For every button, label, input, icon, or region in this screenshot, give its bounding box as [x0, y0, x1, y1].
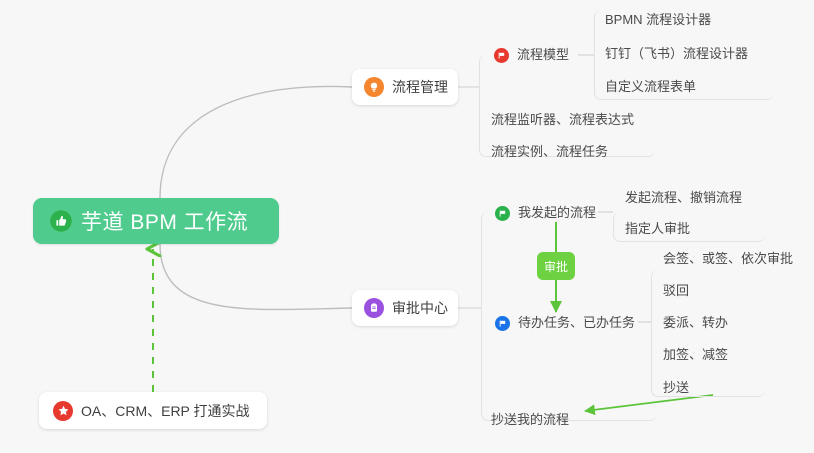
flag-icon — [495, 206, 510, 221]
leaf-daiban-yiban-renwu[interactable]: 待办任务、已办任务 — [495, 313, 635, 333]
branch-label: 流程管理 — [392, 77, 448, 97]
approval-badge-label: 审批 — [544, 258, 568, 275]
leaf-label: 抄送 — [663, 378, 689, 398]
leaf-chaosong[interactable]: 抄送 — [663, 378, 689, 398]
leaf-label: 我发起的流程 — [518, 203, 596, 223]
leaf-liucheng-jiantingqi[interactable]: 流程监听器、流程表达式 — [491, 110, 634, 130]
leaf-bpmn-designer[interactable]: BPMN 流程设计器 — [605, 10, 711, 30]
thumbs-up-icon — [50, 210, 72, 232]
branch-node-shenpi-zhongxin[interactable]: 审批中心 — [352, 290, 458, 326]
leaf-chaosong-wode-liucheng[interactable]: 抄送我的流程 — [491, 410, 569, 430]
mindmap-canvas: 芋道 BPM 工作流 流程管理 流程模型 流程监听器、流程表达式 流程实例、流程… — [0, 0, 814, 453]
leaf-label: 自定义流程表单 — [605, 77, 696, 97]
leaf-label: 流程实例、流程任务 — [491, 142, 608, 162]
leaf-weipai-zhuanban[interactable]: 委派、转办 — [663, 313, 728, 333]
callout-node-oa-crm-erp[interactable]: OA、CRM、ERP 打通实战 — [39, 392, 267, 429]
approval-badge[interactable]: 审批 — [537, 252, 575, 280]
leaf-faqi-chexiao[interactable]: 发起流程、撤销流程 — [625, 188, 742, 208]
lightbulb-icon — [364, 77, 384, 97]
leaf-label: 指定人审批 — [625, 219, 690, 239]
leaf-label: 加签、减签 — [663, 345, 728, 365]
branch-node-liucheng-guanli[interactable]: 流程管理 — [352, 69, 458, 105]
leaf-label: 流程模型 — [517, 45, 569, 65]
clipboard-icon — [364, 298, 384, 318]
callout-label: OA、CRM、ERP 打通实战 — [81, 401, 250, 421]
leaf-label: BPMN 流程设计器 — [605, 10, 711, 30]
leaf-custom-form[interactable]: 自定义流程表单 — [605, 77, 696, 97]
leaf-label: 发起流程、撤销流程 — [625, 188, 742, 208]
leaf-label: 抄送我的流程 — [491, 410, 569, 430]
root-node[interactable]: 芋道 BPM 工作流 — [33, 198, 279, 244]
root-label: 芋道 BPM 工作流 — [81, 206, 248, 236]
leaf-bohui[interactable]: 驳回 — [663, 281, 689, 301]
star-icon — [53, 401, 73, 421]
leaf-wo-faqi-de-liucheng[interactable]: 我发起的流程 — [495, 203, 596, 223]
flag-icon — [494, 48, 509, 63]
leaf-dingtalk-designer[interactable]: 钉钉（飞书）流程设计器 — [605, 44, 748, 64]
leaf-label: 驳回 — [663, 281, 689, 301]
flag-icon — [495, 316, 510, 331]
leaf-liucheng-moxing[interactable]: 流程模型 — [494, 45, 569, 65]
leaf-label: 流程监听器、流程表达式 — [491, 110, 634, 130]
leaf-label: 待办任务、已办任务 — [518, 313, 635, 333]
leaf-jiaqian-jianqian[interactable]: 加签、减签 — [663, 345, 728, 365]
leaf-huiqian-huoqian[interactable]: 会签、或签、依次审批 — [663, 249, 793, 269]
leaf-liucheng-shili[interactable]: 流程实例、流程任务 — [491, 142, 608, 162]
leaf-label: 钉钉（飞书）流程设计器 — [605, 44, 748, 64]
leaf-label: 会签、或签、依次审批 — [663, 249, 793, 269]
branch-label: 审批中心 — [392, 298, 448, 318]
leaf-label: 委派、转办 — [663, 313, 728, 333]
leaf-zhidingren-shenpi[interactable]: 指定人审批 — [625, 219, 690, 239]
